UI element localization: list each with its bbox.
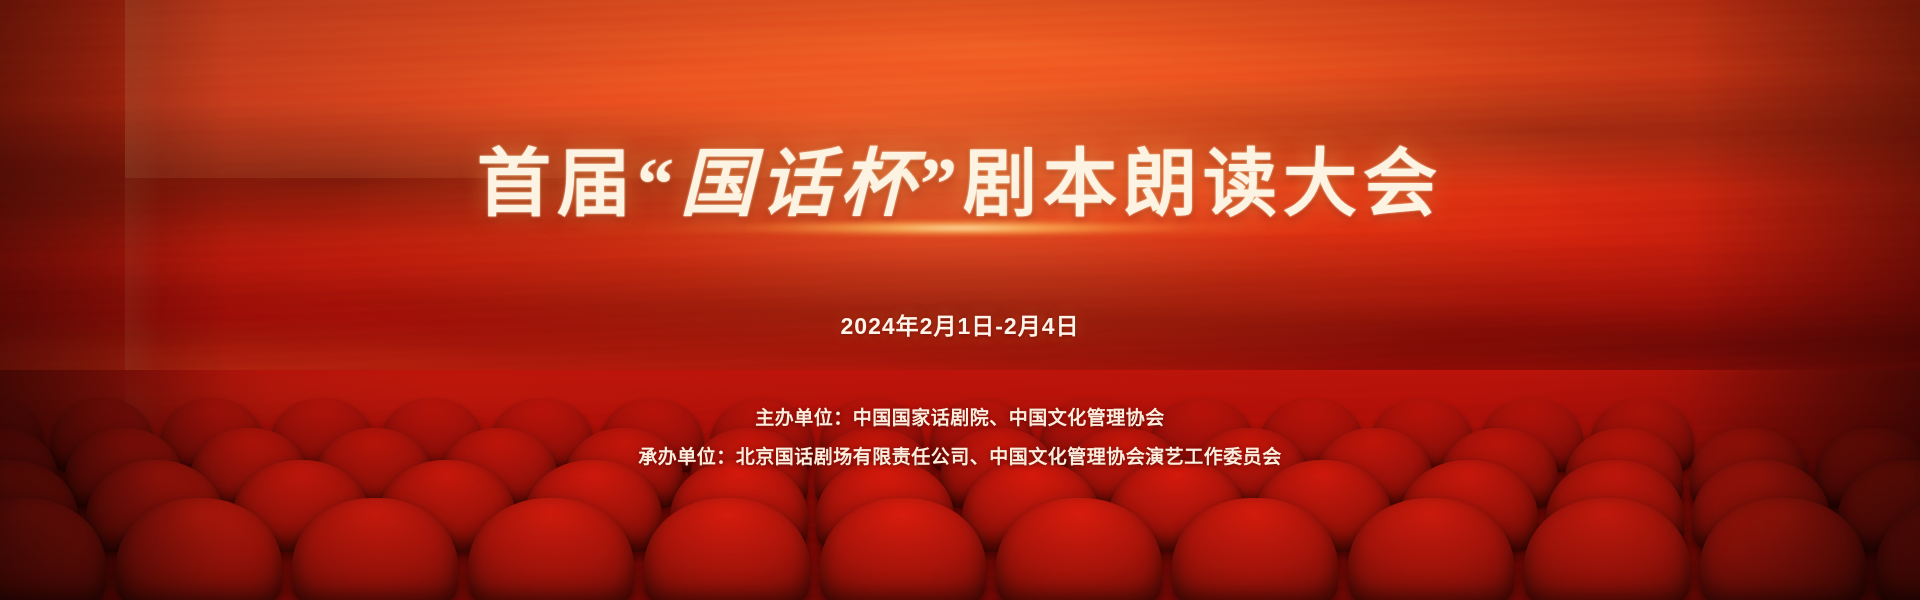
- title-suffix: 剧本朗读大会: [963, 144, 1443, 226]
- organizer-sponsor-line: 承办单位：北京国话剧场有限责任公司、中国文化管理协会演艺工作委员会: [638, 442, 1282, 469]
- event-banner: 首届“国话杯”剧本朗读大会 2024年2月1日-2月4日 主办单位：中国国家话剧…: [0, 0, 1920, 600]
- title-prefix: 首届: [477, 144, 637, 226]
- title-close-quote: ”: [920, 144, 963, 226]
- page-title: 首届“国话杯”剧本朗读大会: [477, 148, 1443, 222]
- event-date: 2024年2月1日-2月4日: [841, 307, 1080, 341]
- organizer-host-line: 主办单位：中国国家话剧院、中国文化管理协会: [638, 403, 1282, 430]
- title-open-quote: “: [637, 144, 680, 226]
- banner-content: 首届“国话杯”剧本朗读大会 2024年2月1日-2月4日 主办单位：中国国家话剧…: [0, 0, 1920, 600]
- organizer-block: 主办单位：中国国家话剧院、中国文化管理协会 承办单位：北京国话剧场有限责任公司、…: [638, 403, 1282, 469]
- title-block: 首届“国话杯”剧本朗读大会: [477, 148, 1443, 222]
- title-emphasis: 国话杯: [680, 144, 920, 226]
